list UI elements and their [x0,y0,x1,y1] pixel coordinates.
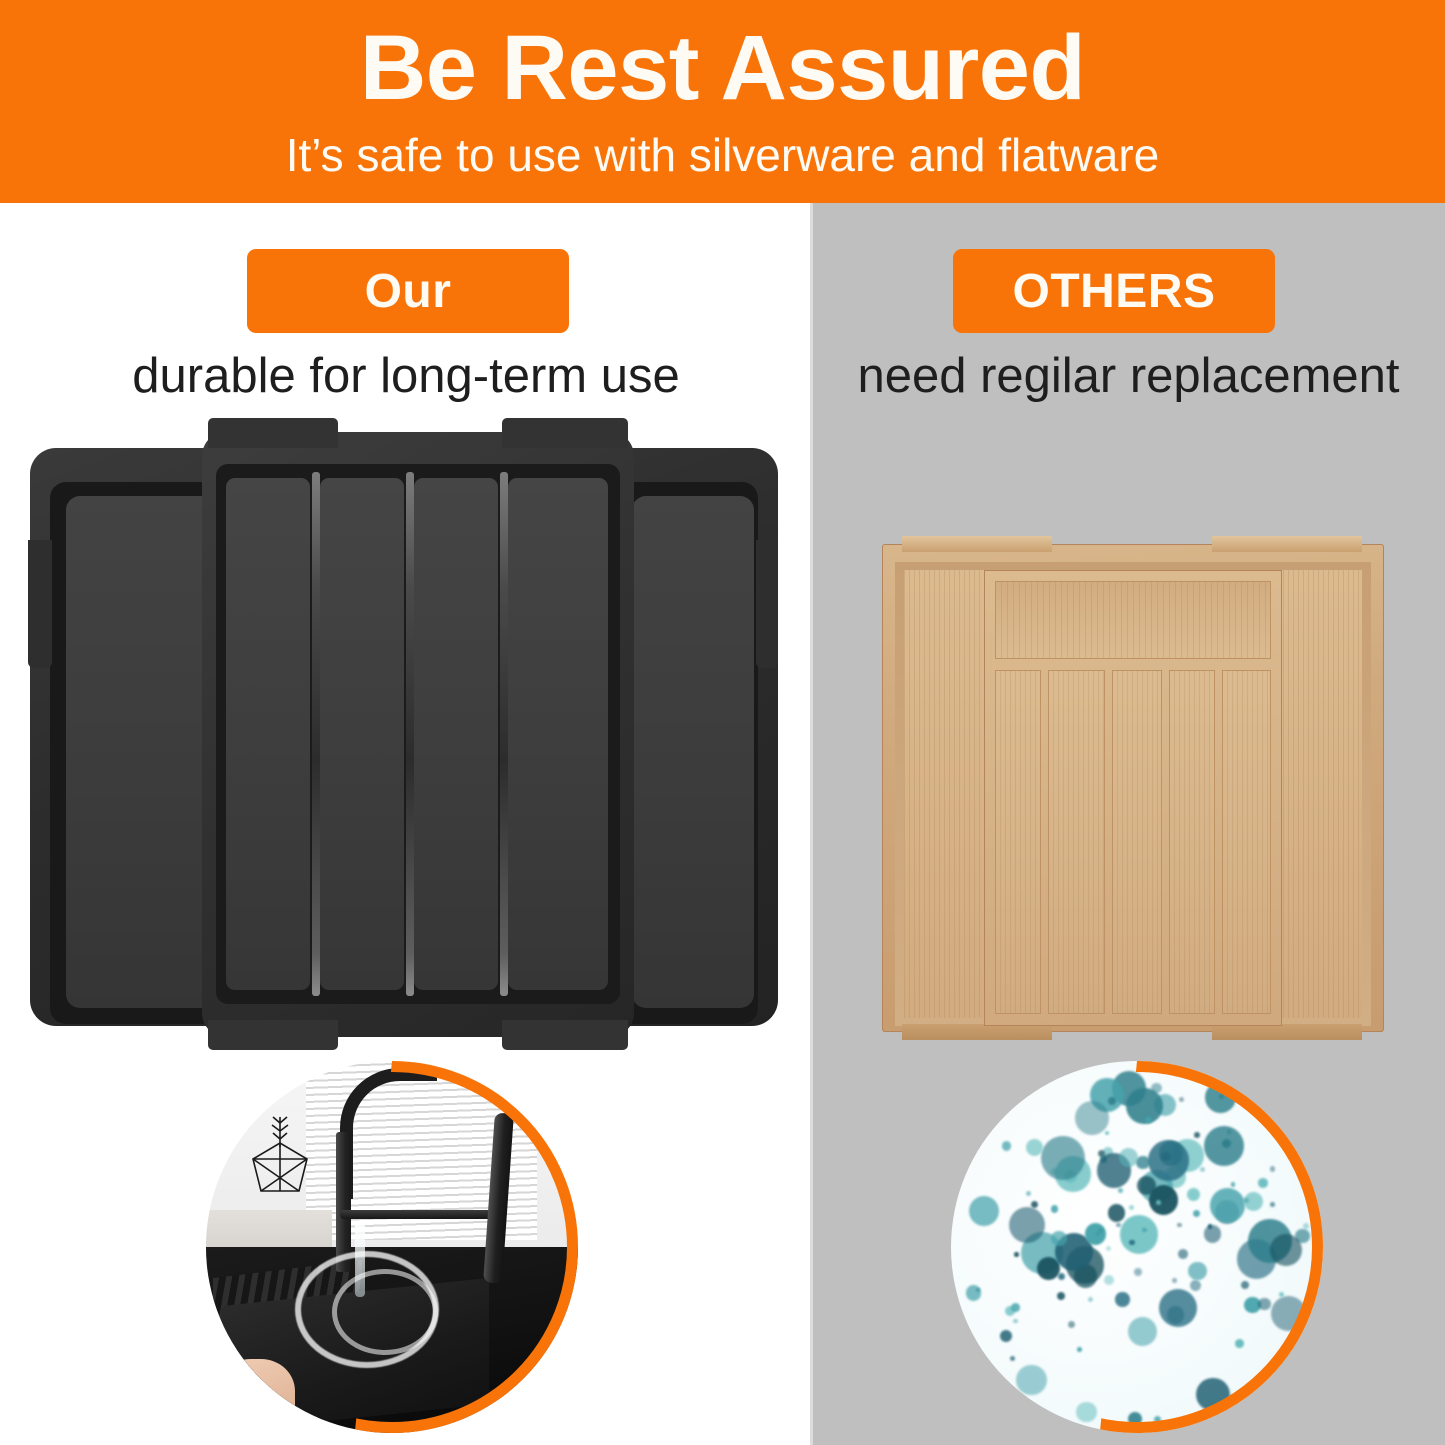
bacteria-colony-dot [1000,1330,1012,1342]
wood-tray-slot-2 [1048,670,1105,1014]
bacteria-colony-dot [1013,1319,1017,1323]
wood-tray-slot-5 [1222,670,1271,1014]
bacteria-colony-dot [1118,1188,1123,1193]
bacteria-colony-dot [969,1196,999,1226]
black-tray-divider-2 [406,472,414,996]
bacteria-colony-dot [1041,1136,1085,1180]
header-banner: Be Rest Assured It’s safe to use with si… [0,0,1445,203]
wood-tray-tab-top-right [1212,536,1362,552]
black-tray-divider-3 [500,472,508,996]
bacteria-colony-dot [1051,1231,1066,1246]
bacteria-colony-dot [1116,1223,1121,1228]
black-tray-sliding-insert [202,432,634,1037]
bacteria-colony-dot [966,1285,982,1301]
wood-tray-left-compartment [904,570,990,1018]
wood-tray-sliding-insert [984,570,1282,1026]
black-tray-insert-tab-bottom-right [502,1020,628,1050]
black-tray-insert-tab-top-right [502,418,628,448]
bacteria-colony-dot [1068,1321,1075,1328]
wood-tray-tab-bottom-left [902,1024,1052,1040]
bacteria-colony-dot [1031,1201,1038,1208]
wood-tray-slot-4 [1169,670,1215,1014]
bacteria-colony-dot [1002,1141,1011,1150]
page-subtitle: It’s safe to use with silverware and fla… [0,114,1445,178]
bacteria-colony-dot [1010,1356,1015,1361]
bacteria-colony-dot [1016,1365,1046,1395]
black-tray-right-tab [756,540,778,668]
bacteria-colony-dot [1014,1252,1018,1256]
bacteria-colony-dot [1104,1275,1114,1285]
wood-tray-slot-3 [1112,670,1162,1014]
wood-tray-tab-bottom-right [1212,1024,1362,1040]
black-tray-slot-2 [320,478,404,990]
wood-tray-slot-1 [995,670,1041,1014]
wood-tray-top-compartment [995,581,1271,659]
bacteria-colony-dot [1051,1205,1059,1213]
hand-holding-tray [221,1359,295,1429]
bacteria-colony-dot [1026,1191,1031,1196]
bacteria-colony-dot [1075,1101,1109,1135]
black-tray-slot-4 [508,478,608,990]
black-tray-insert-tab-bottom-left [208,1020,338,1050]
wood-tray-tab-top-left [902,536,1052,552]
bacteria-colony-dot [1057,1292,1065,1300]
others-badge: OTHERS [953,249,1275,333]
black-tray-slot-3 [414,478,498,990]
faucet-stem [336,1132,351,1272]
others-caption: need regilar replacement [812,352,1445,401]
black-tray-slot-1 [226,478,310,990]
bacteria-colony-dot [1026,1139,1043,1156]
bacteria-colony-dot [1077,1347,1082,1352]
black-tray-divider-1 [312,472,320,996]
bacteria-colony-dot [1076,1402,1097,1423]
our-caption: durable for long-term use [0,352,812,401]
wire-vase-decor-icon [247,1113,313,1193]
black-tray-left-tab [28,540,52,668]
black-tray-right-compartment [632,496,754,1008]
bacteria-colony-dot [1088,1297,1093,1302]
product-comparison-infographic: Be Rest Assured It’s safe to use with si… [0,0,1445,1445]
black-tray-insert-tab-top-left [208,418,338,448]
wood-tray-right-compartment [1278,570,1362,1018]
wooden-organizer-image [882,538,1384,1038]
black-silicone-organizer-image [30,432,778,1037]
our-badge: Our [247,249,569,333]
bacteria-colony-dot [1085,1223,1106,1244]
bacteria-colony-dot [1011,1303,1020,1312]
bacteria-colony-dot [1105,1131,1109,1135]
bacteria-colony-dot [1106,1246,1112,1252]
page-title: Be Rest Assured [0,0,1445,114]
bacteria-colony-dot [1058,1273,1065,1280]
